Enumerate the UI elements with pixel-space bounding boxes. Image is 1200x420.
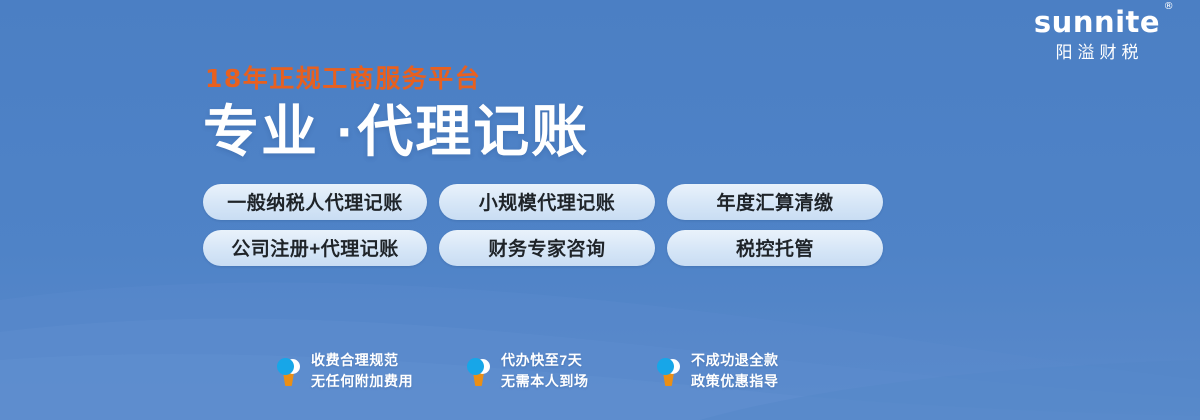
hero-kicker: 18年正规工商服务平台 <box>205 66 963 91</box>
feature-item-refund: 不成功退全款 政策优惠指导 <box>656 350 846 392</box>
logo-chinese-name: 阳溢财税 <box>1012 44 1182 61</box>
service-pill-general-taxpayer[interactable]: 一般纳税人代理记账 <box>203 184 427 220</box>
service-pill-tax-control-hosting[interactable]: 税控托管 <box>667 230 883 266</box>
circle-cone-icon <box>656 356 682 386</box>
feature-text-pricing: 收费合理规范 无任何附加费用 <box>311 350 413 392</box>
promo-banner: sunnite ® 阳溢财税 18年正规工商服务平台 专业 ·代理记账 一般纳税… <box>0 0 1200 420</box>
brand-logo[interactable]: sunnite ® 阳溢财税 <box>1012 8 1182 61</box>
feature-item-speed: 代办快至7天 无需本人到场 <box>466 350 656 392</box>
service-pill-small-scale[interactable]: 小规模代理记账 <box>439 184 655 220</box>
feature-line-1: 收费合理规范 <box>311 350 413 371</box>
feature-line-1: 代办快至7天 <box>501 350 589 371</box>
circle-cone-icon <box>466 356 492 386</box>
feature-item-pricing: 收费合理规范 无任何附加费用 <box>276 350 466 392</box>
service-pill-row-1: 一般纳税人代理记账 小规模代理记账 年度汇算清缴 <box>203 184 963 220</box>
feature-line-2: 政策优惠指导 <box>691 371 779 392</box>
feature-text-speed: 代办快至7天 无需本人到场 <box>501 350 589 392</box>
circle-shape <box>277 358 294 375</box>
circle-shape <box>467 358 484 375</box>
feature-line-2: 无需本人到场 <box>501 371 589 392</box>
service-pill-company-registration[interactable]: 公司注册+代理记账 <box>203 230 427 266</box>
service-pill-annual-settlement[interactable]: 年度汇算清缴 <box>667 184 883 220</box>
cone-shape <box>471 373 486 386</box>
hero-headline: 专业 ·代理记账 <box>203 103 963 162</box>
circle-cone-icon <box>276 356 302 386</box>
service-pill-list: 一般纳税人代理记账 小规模代理记账 年度汇算清缴 公司注册+代理记账 财务专家咨… <box>203 184 963 266</box>
service-pill-finance-consulting[interactable]: 财务专家咨询 <box>439 230 655 266</box>
logo-wordmark-text: sunnite <box>1034 5 1160 39</box>
circle-shape <box>657 358 674 375</box>
hero-content: 18年正规工商服务平台 专业 ·代理记账 一般纳税人代理记账 小规模代理记账 年… <box>203 66 963 276</box>
service-pill-row-2: 公司注册+代理记账 财务专家咨询 税控托管 <box>203 230 963 266</box>
registered-trademark-icon: ® <box>1164 2 1175 12</box>
feature-line-2: 无任何附加费用 <box>311 371 413 392</box>
feature-strip: 收费合理规范 无任何附加费用 代办快至7天 无需本人到场 不成功退全款 <box>276 350 846 392</box>
cone-shape <box>661 373 676 386</box>
logo-wordmark: sunnite ® <box>1034 8 1160 37</box>
feature-text-refund: 不成功退全款 政策优惠指导 <box>691 350 779 392</box>
feature-line-1: 不成功退全款 <box>691 350 779 371</box>
cone-shape <box>281 373 296 386</box>
